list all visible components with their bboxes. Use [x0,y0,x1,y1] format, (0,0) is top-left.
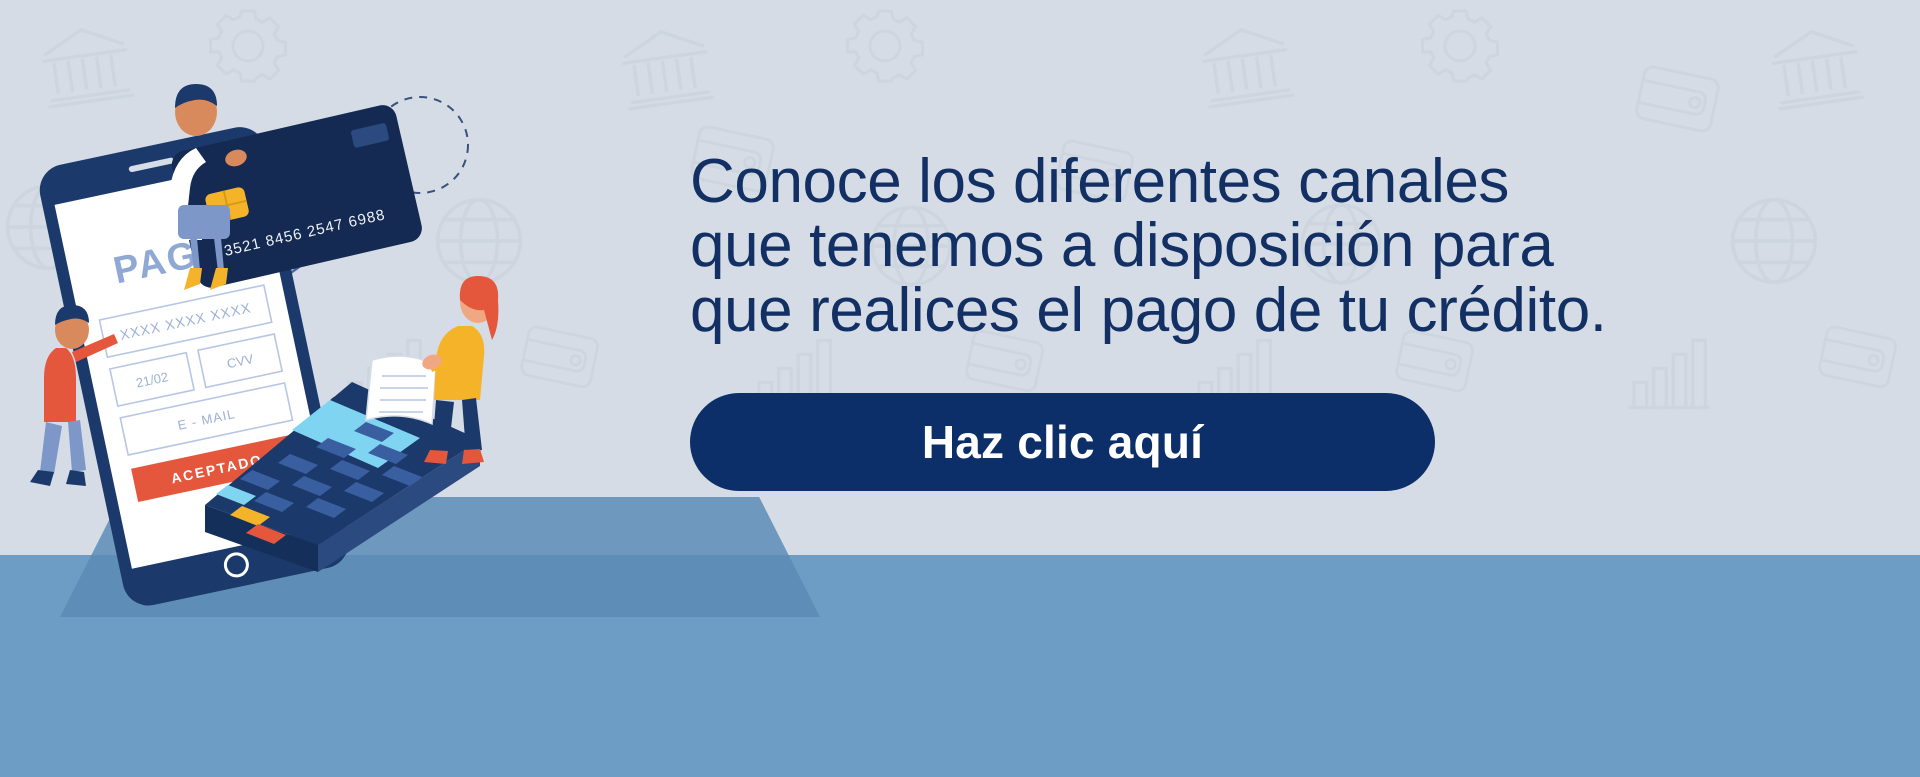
bank-icon [1194,12,1298,116]
wallet-icon [1628,50,1731,147]
page-title: Conoce los diferentes canales que tenemo… [690,150,1810,343]
headline-line-3: que realices el pago de tu crédito. [690,279,1810,343]
wallet-icon [1811,310,1907,401]
headline-line-2: que tenemos a disposición para [690,214,1810,278]
banner-content: Conoce los diferentes canales que tenemo… [690,150,1810,491]
payment-channels-banner: PAGO XXXX XXXX XXXX 21/02 CVV E - MAIL A… [0,0,1920,777]
payment-illustration: PAGO XXXX XXXX XXXX 21/02 CVV E - MAIL A… [0,0,640,640]
gear-icon [845,6,925,86]
headline-line-1: Conoce los diferentes canales [690,150,1810,214]
bank-icon [1764,14,1868,118]
gear-icon [1420,6,1500,86]
haz-clic-aqui-button[interactable]: Haz clic aquí [690,393,1435,491]
